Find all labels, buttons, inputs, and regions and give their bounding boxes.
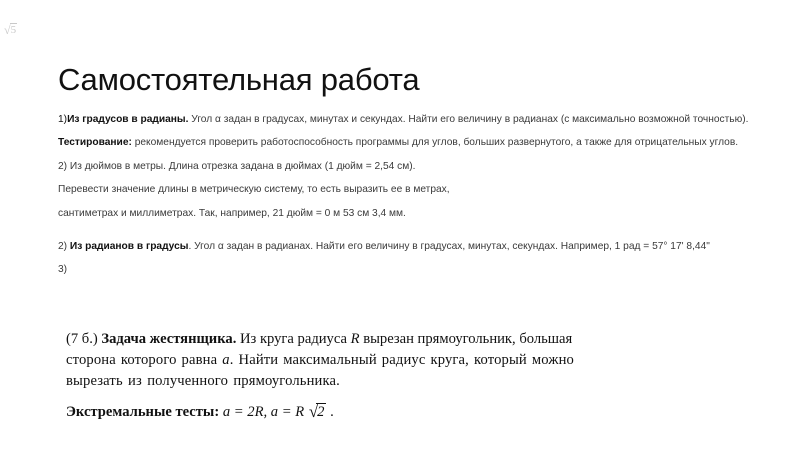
math-line-2-head: сторона которого равна: [66, 352, 222, 368]
task-1-text: Угол α задан в градусах, минутах и секун…: [188, 114, 748, 125]
math-variable-a: a: [222, 352, 229, 368]
math-problem-line-1: (7 б.) Задача жестянщика. Из круга радиу…: [66, 329, 726, 350]
radicand-value: 5: [10, 23, 18, 36]
task-2-text: Из дюймов в метры. Длина отрезка задана …: [67, 161, 415, 172]
radicand-value-2: 2: [316, 403, 326, 420]
math-line-2-tail: . Найти максимальный радиус круга, котор…: [230, 352, 574, 368]
testing-bold-lead: Тестирование:: [58, 137, 132, 148]
task-2-line-3-text: сантиметрах и миллиметрах. Так, например…: [58, 208, 406, 219]
math-watermark: √5: [4, 24, 17, 36]
square-root-expression: √2: [308, 401, 327, 423]
task-2b-bold-lead: Из радианов в градусы: [67, 241, 188, 252]
math-line-1-rest: Из круга радиуса: [236, 331, 350, 347]
task-2-line-2-text: Перевести значение длины в метрическую с…: [58, 184, 450, 195]
task-1-bold-lead: Из градусов в радианы.: [67, 114, 188, 125]
task-3-text: 3): [58, 264, 67, 275]
paragraph-task-3-numeral: 3): [58, 263, 762, 277]
paragraph-task-2-line-3: сантиметрах и миллиметрах. Так, например…: [58, 207, 762, 221]
math-problem-block: (7 б.) Задача жестянщика. Из круга радиу…: [66, 329, 726, 423]
task-list: 1)Из градусов в радианы. Угол α задан в …: [58, 113, 762, 278]
paragraph-testing-note: Тестирование: рекомендуется проверить ра…: [58, 136, 762, 150]
paragraph-task-2: 2) Из дюймов в метры. Длина отрезка зада…: [58, 160, 762, 174]
paragraph-task-1: 1)Из градусов в радианы. Угол α задан в …: [58, 113, 762, 127]
math-problem-title: Задача жестянщика.: [101, 331, 236, 347]
page-title: Самостоятельная работа: [58, 62, 419, 98]
math-line-1-tail: вырезан прямоугольник, большая: [360, 331, 573, 347]
math-extreme-tests-line: Экстремальные тесты: a = 2R, a = R √2 .: [66, 401, 726, 423]
math-line-3-text: вырезать из полученного прямоугольника.: [66, 373, 340, 389]
paragraph-task-2-line-2: Перевести значение длины в метрическую с…: [58, 183, 762, 197]
task-2b-text: . Угол α задан в радианах. Найти его вел…: [188, 241, 709, 252]
paragraph-task-2b: 2) Из радианов в градусы. Угол α задан в…: [58, 240, 762, 254]
task-1-number: 1): [58, 114, 67, 125]
math-variable-R: R: [351, 331, 360, 347]
testing-text: рекомендуется проверить работоспособност…: [132, 137, 738, 148]
math-problem-line-2: сторона которого равна a. Найти максимал…: [66, 350, 726, 371]
extreme-tests-label: Экстремальные тесты:: [66, 404, 219, 420]
extreme-tail: .: [326, 404, 333, 420]
math-problem-line-3: вырезать из полученного прямоугольника.: [66, 371, 726, 392]
task-2-number: 2): [58, 161, 67, 172]
extreme-case-2-head: a = R: [271, 404, 308, 420]
task-2b-number: 2): [58, 241, 67, 252]
slide-canvas: √5 Самостоятельная работа 1)Из градусов …: [0, 0, 800, 450]
extreme-case-1: a = 2R,: [219, 404, 271, 420]
math-points-label: (7 б.): [66, 331, 98, 347]
